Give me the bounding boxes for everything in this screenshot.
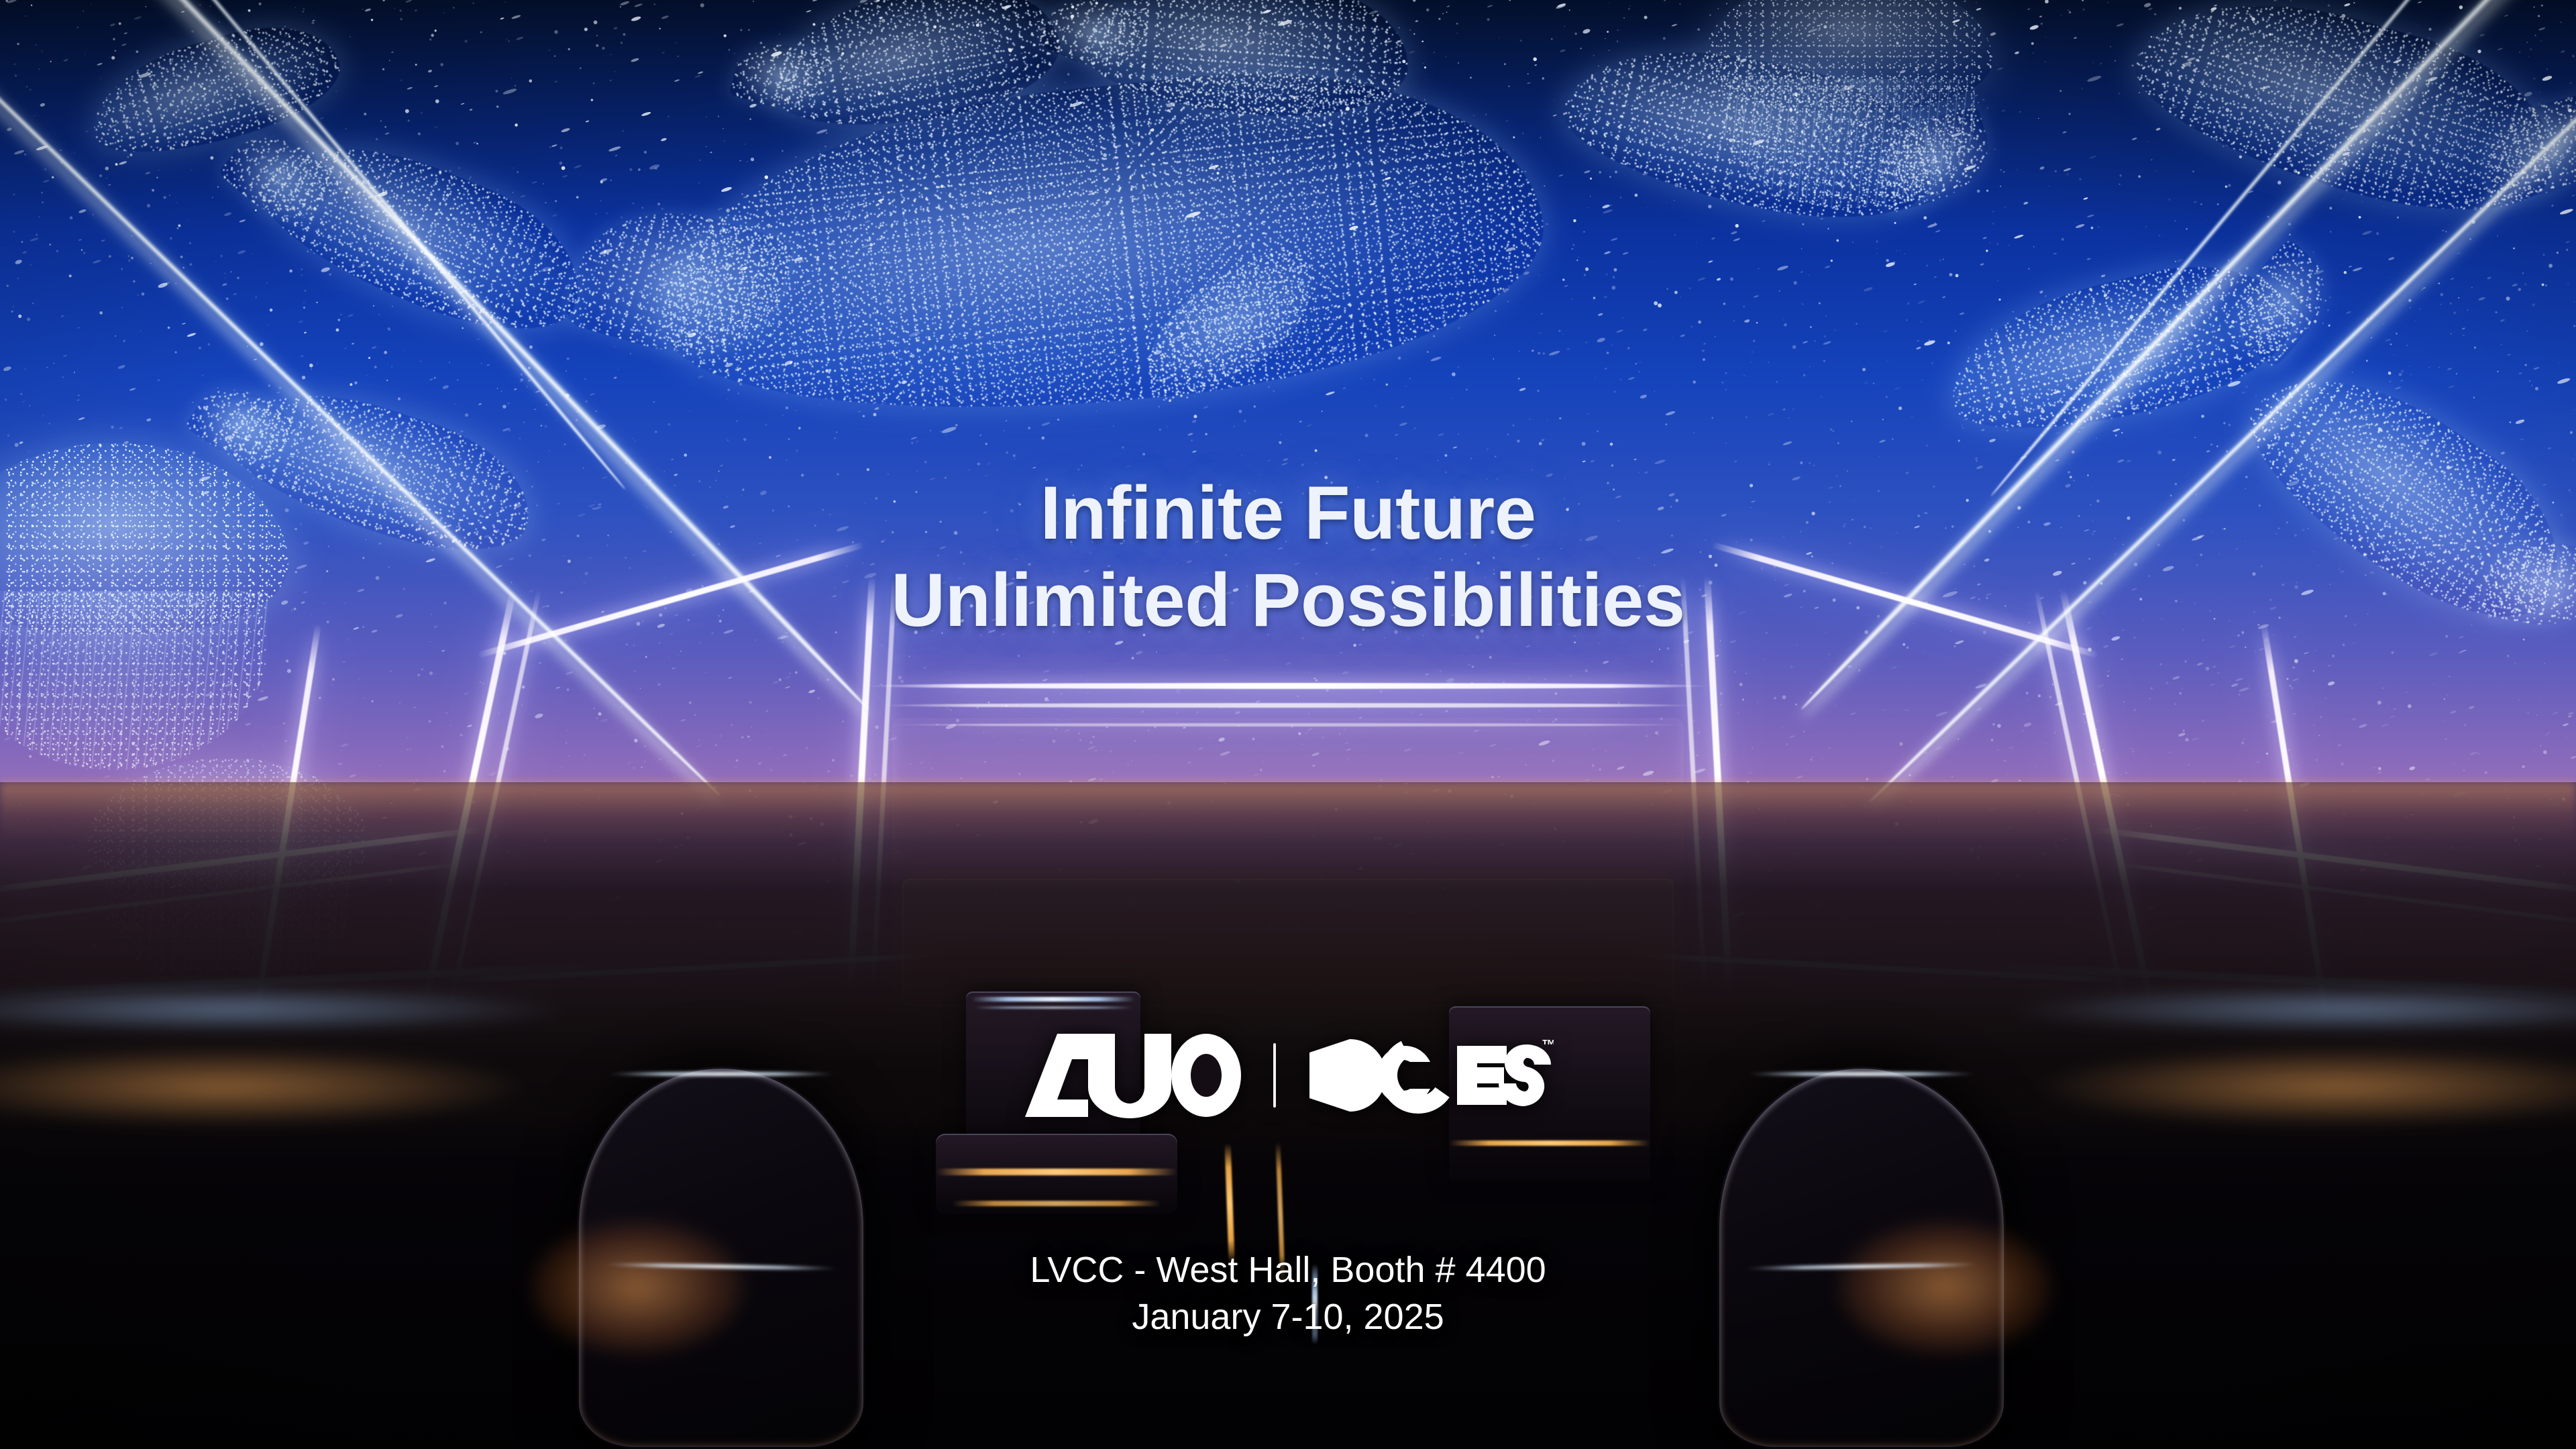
- headline: Infinite Future Unlimited Possibilities: [0, 470, 2576, 644]
- headline-line-1: Infinite Future: [0, 470, 2576, 557]
- trademark-symbol: ™: [1542, 1036, 1554, 1053]
- key-visual-canvas: Infinite Future Unlimited Possibilities: [0, 0, 2576, 1449]
- headline-line-2: Unlimited Possibilities: [0, 557, 2576, 644]
- logo-lockup: ™: [0, 1025, 2576, 1126]
- logo-divider: [1273, 1043, 1276, 1108]
- footer-venue: LVCC - West Hall, Booth # 4400: [0, 1246, 2576, 1293]
- ces-logo: ™: [1305, 1032, 1554, 1118]
- footer: LVCC - West Hall, Booth # 4400 January 7…: [0, 1246, 2576, 1340]
- auo-logo: [1022, 1032, 1244, 1118]
- vignette: [0, 0, 2576, 1449]
- footer-dates: January 7-10, 2025: [0, 1293, 2576, 1340]
